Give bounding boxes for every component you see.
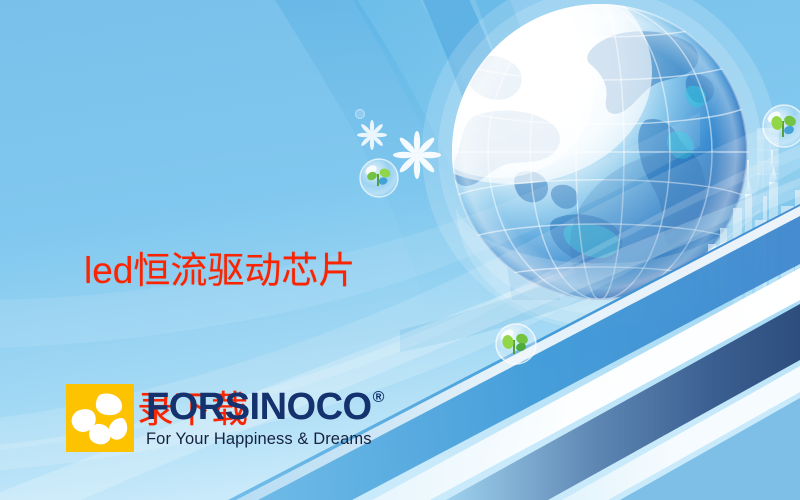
brand-name-text: FORSINOCO bbox=[146, 388, 372, 426]
poster-canvas: led恒流驱动芯片 目录下载 FORSINOCO ® For Your Happ… bbox=[0, 0, 800, 500]
registered-trademark-icon: ® bbox=[373, 390, 384, 406]
sparkle-flower-large bbox=[393, 131, 441, 179]
bubble-sprout-right bbox=[763, 105, 800, 147]
brand-logo[interactable]: FORSINOCO ® For Your Happiness & Dreams bbox=[66, 384, 384, 452]
four-petal-flower-icon bbox=[66, 384, 134, 452]
brand-wordmark-group: FORSINOCO ® For Your Happiness & Dreams bbox=[146, 388, 384, 449]
city-skyline-silhouette bbox=[696, 128, 800, 304]
bubble-sprout-left bbox=[360, 159, 398, 197]
bubble-sprout-center bbox=[496, 324, 536, 364]
droplet-icon bbox=[356, 110, 365, 119]
sparkle-flower-small bbox=[357, 120, 387, 150]
light-streaks bbox=[628, 210, 780, 336]
headline-line-1: led恒流驱动芯片 bbox=[84, 248, 355, 293]
brand-tagline: For Your Happiness & Dreams bbox=[146, 430, 384, 449]
brand-name: FORSINOCO ® bbox=[146, 388, 384, 426]
globe-graphic bbox=[372, 0, 800, 342]
